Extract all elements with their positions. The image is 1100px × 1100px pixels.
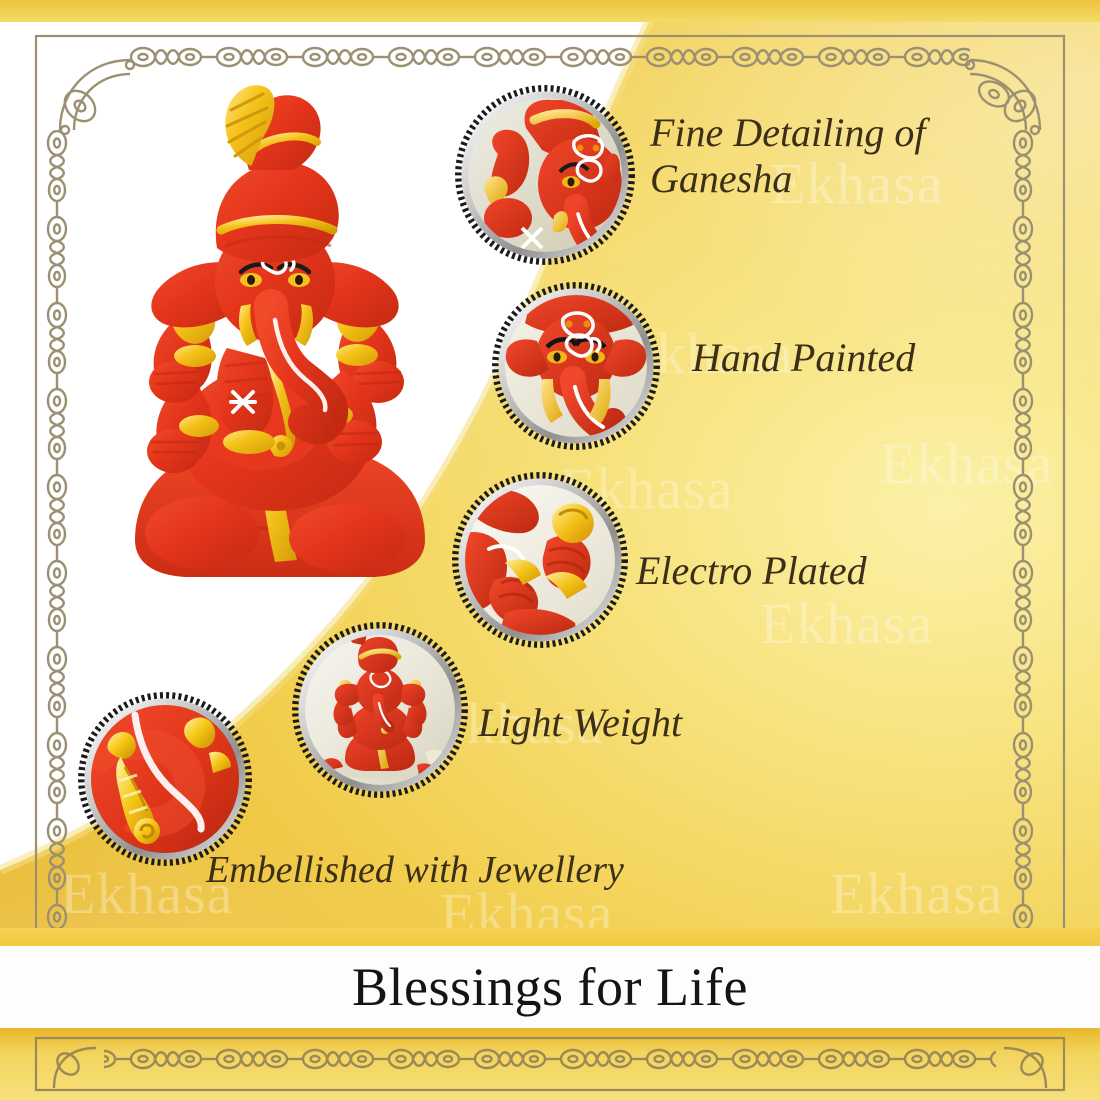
feature-medallion-fine-detailing[interactable] [455,85,635,265]
medallion-photo-embellished-jewellery [91,705,239,853]
feature-medallion-embellished-jewellery[interactable] [78,692,252,866]
feature-medallion-electro-plated[interactable] [452,472,628,648]
feature-label-electro-plated: Electro Plated [636,548,996,594]
top-gold-strip [0,0,1100,22]
medallion-photo-electro-plated [465,485,615,635]
tagline-text: Blessings for Life [352,956,748,1018]
feature-medallion-hand-painted[interactable] [492,282,660,450]
feature-label-fine-detailing: Fine Detailing of Ganesha [650,110,990,203]
banner-bottom-gold-strip [0,1028,1100,1100]
medallion-photo-light-weight [305,635,455,785]
product-infographic-poster: Ekhasa Ekhasa Ekhasa Ekhasa Ekhasa Ekhas… [0,0,1100,1100]
medallion-photo-hand-painted [505,295,647,437]
feature-label-embellished-jewellery: Embellished with Jewellery [206,848,766,892]
feature-medallion-light-weight[interactable] [292,622,468,798]
tagline-banner: Blessings for Life [0,946,1100,1028]
feature-label-light-weight: Light Weight [478,700,838,746]
medallion-photo-fine-detailing [468,98,622,252]
feature-label-hand-painted: Hand Painted [692,335,1032,381]
ganesha-idol-image [75,70,475,590]
